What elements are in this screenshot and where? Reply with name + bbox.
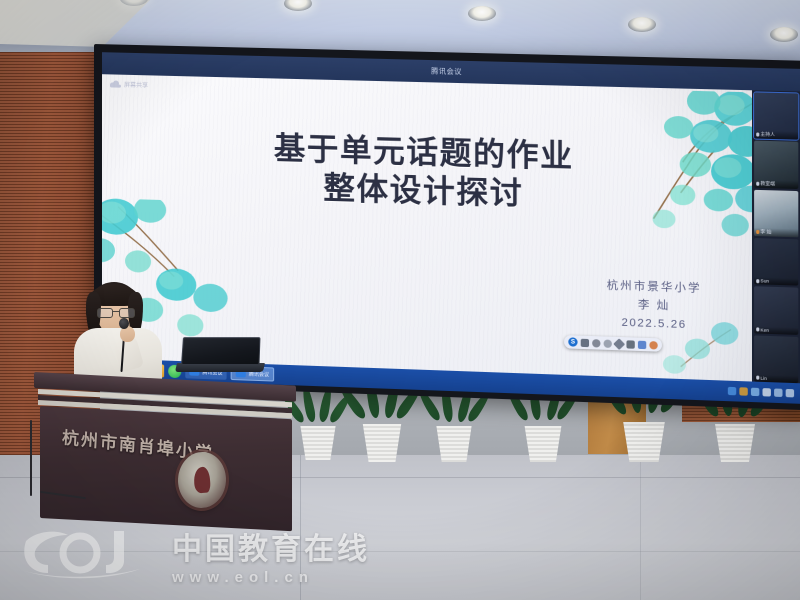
participant-name: Lin — [760, 376, 766, 381]
participant-name-row: 李 灿 — [754, 228, 798, 238]
participant-name: Sun — [760, 279, 769, 284]
laptop — [176, 337, 262, 373]
participant-tile[interactable]: Sun — [754, 238, 798, 286]
slide-school: 杭州市景华小学 — [607, 276, 702, 298]
participant-name-row: Sun — [754, 277, 798, 286]
wall-cable — [30, 420, 32, 496]
participant-name: 教室端 — [760, 180, 775, 187]
microphone-icon — [756, 133, 759, 137]
microphone-icon — [756, 327, 759, 331]
volume-icon[interactable] — [763, 388, 771, 397]
participant-tile[interactable]: 教室端 — [754, 141, 798, 189]
network-icon[interactable] — [751, 388, 759, 397]
microphone-icon — [119, 318, 129, 329]
participant-name-row: 教室端 — [754, 179, 798, 188]
potted-plant — [296, 388, 340, 460]
share-tag-label: 屏幕共享 — [124, 80, 148, 90]
participant-tile[interactable]: 李 灿 — [754, 189, 798, 237]
screen-share-indicator: 屏幕共享 — [110, 79, 148, 89]
participant-tile[interactable]: Lin — [754, 335, 798, 383]
participant-name: Ken — [760, 327, 769, 332]
meeting-app-title: 腾讯会议 — [431, 66, 462, 77]
watermark-text: 中国教育在线 www.eol.cn — [172, 524, 370, 586]
emoji-icon[interactable] — [604, 339, 612, 347]
shared-slide: 屏幕共享 — [102, 74, 752, 381]
slide-date: 2022.5.26 — [607, 313, 702, 335]
pen-icon[interactable] — [613, 338, 625, 350]
chinese-mode-icon[interactable] — [581, 338, 589, 346]
punctuation-icon[interactable] — [592, 339, 600, 347]
system-tray[interactable] — [728, 387, 797, 398]
ime-toolbar[interactable]: S — [564, 335, 662, 352]
participant-tile[interactable]: Ken — [754, 287, 798, 335]
ime-icon[interactable] — [774, 388, 782, 397]
participant-name-row: 主持人 — [754, 131, 798, 140]
participant-strip[interactable]: 主持人 教室端 李 灿 — [752, 90, 800, 383]
watermark-url: www.eol.cn — [172, 569, 370, 586]
battery-icon[interactable] — [739, 387, 747, 396]
glasses-icon — [97, 308, 134, 316]
downlight-icon — [628, 17, 656, 32]
action-center-icon[interactable] — [786, 389, 794, 398]
eol-logo-icon — [22, 529, 160, 581]
slide-title-line1: 基于单元话题的作业 — [274, 131, 574, 176]
participant-name: 李 灿 — [760, 229, 771, 235]
participant-name: 主持人 — [760, 132, 775, 139]
photo-scene: 腾讯会议 屏幕共享 — [0, 0, 800, 600]
crest-emblem-shape — [193, 466, 211, 493]
slide-title: 基于单元话题的作业 整体设计探讨 — [102, 126, 752, 221]
watermark: 中国教育在线 www.eol.cn — [22, 524, 370, 586]
slide-title-line2: 整体设计探讨 — [102, 164, 752, 221]
cloud-share-icon — [110, 80, 121, 87]
settings-icon[interactable] — [649, 341, 657, 349]
downlight-icon — [770, 27, 798, 42]
microphone-icon — [756, 181, 759, 185]
microphone-icon — [756, 279, 759, 283]
toolbox-icon[interactable] — [626, 340, 634, 348]
laptop-screen — [181, 337, 260, 365]
ime-logo-icon[interactable]: S — [568, 337, 577, 346]
microphone-icon — [756, 230, 759, 234]
microphone-icon — [756, 376, 759, 380]
participant-name-row: Ken — [754, 326, 798, 335]
downlight-icon — [468, 6, 496, 21]
cloud-icon[interactable] — [728, 387, 736, 396]
keyboard-icon[interactable] — [638, 340, 646, 348]
participant-name-row: Lin — [754, 374, 798, 383]
participant-tile[interactable]: 主持人 — [754, 92, 798, 140]
watermark-brand: 中国教育在线 — [172, 524, 370, 568]
slide-author-block: 杭州市景华小学 李 灿 2022.5.26 — [607, 276, 702, 335]
